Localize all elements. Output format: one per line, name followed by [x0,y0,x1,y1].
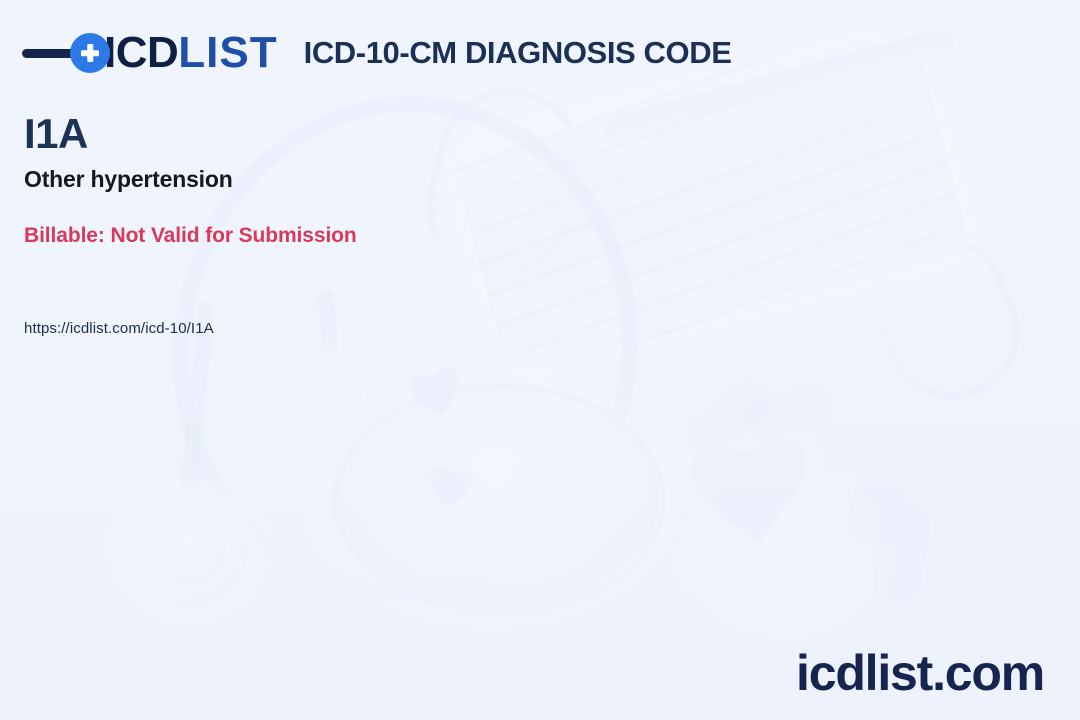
icd-code-card: ICDLIST ICD-10-CM DIAGNOSIS CODE I1A Oth… [0,0,1080,720]
plus-icon [70,33,110,73]
logo-text-icd: ICD [104,28,178,77]
diagnosis-code: I1A [24,112,233,156]
code-block: I1A Other hypertension [24,112,233,193]
source-url[interactable]: https://icdlist.com/icd-10/I1A [24,320,214,337]
card-content: ICDLIST ICD-10-CM DIAGNOSIS CODE I1A Oth… [0,0,1080,720]
status-badge: Billable: Not Valid for Submission [24,224,357,248]
logo-text-list: LIST [178,28,277,77]
header: ICDLIST ICD-10-CM DIAGNOSIS CODE [22,24,1058,82]
logo-wordmark: ICDLIST [104,31,278,75]
page-title: ICD-10-CM DIAGNOSIS CODE [304,35,732,71]
icdlist-logo[interactable]: ICDLIST [22,24,278,82]
diagnosis-description: Other hypertension [24,166,233,193]
footer-brand: icdlist.com [796,648,1044,698]
